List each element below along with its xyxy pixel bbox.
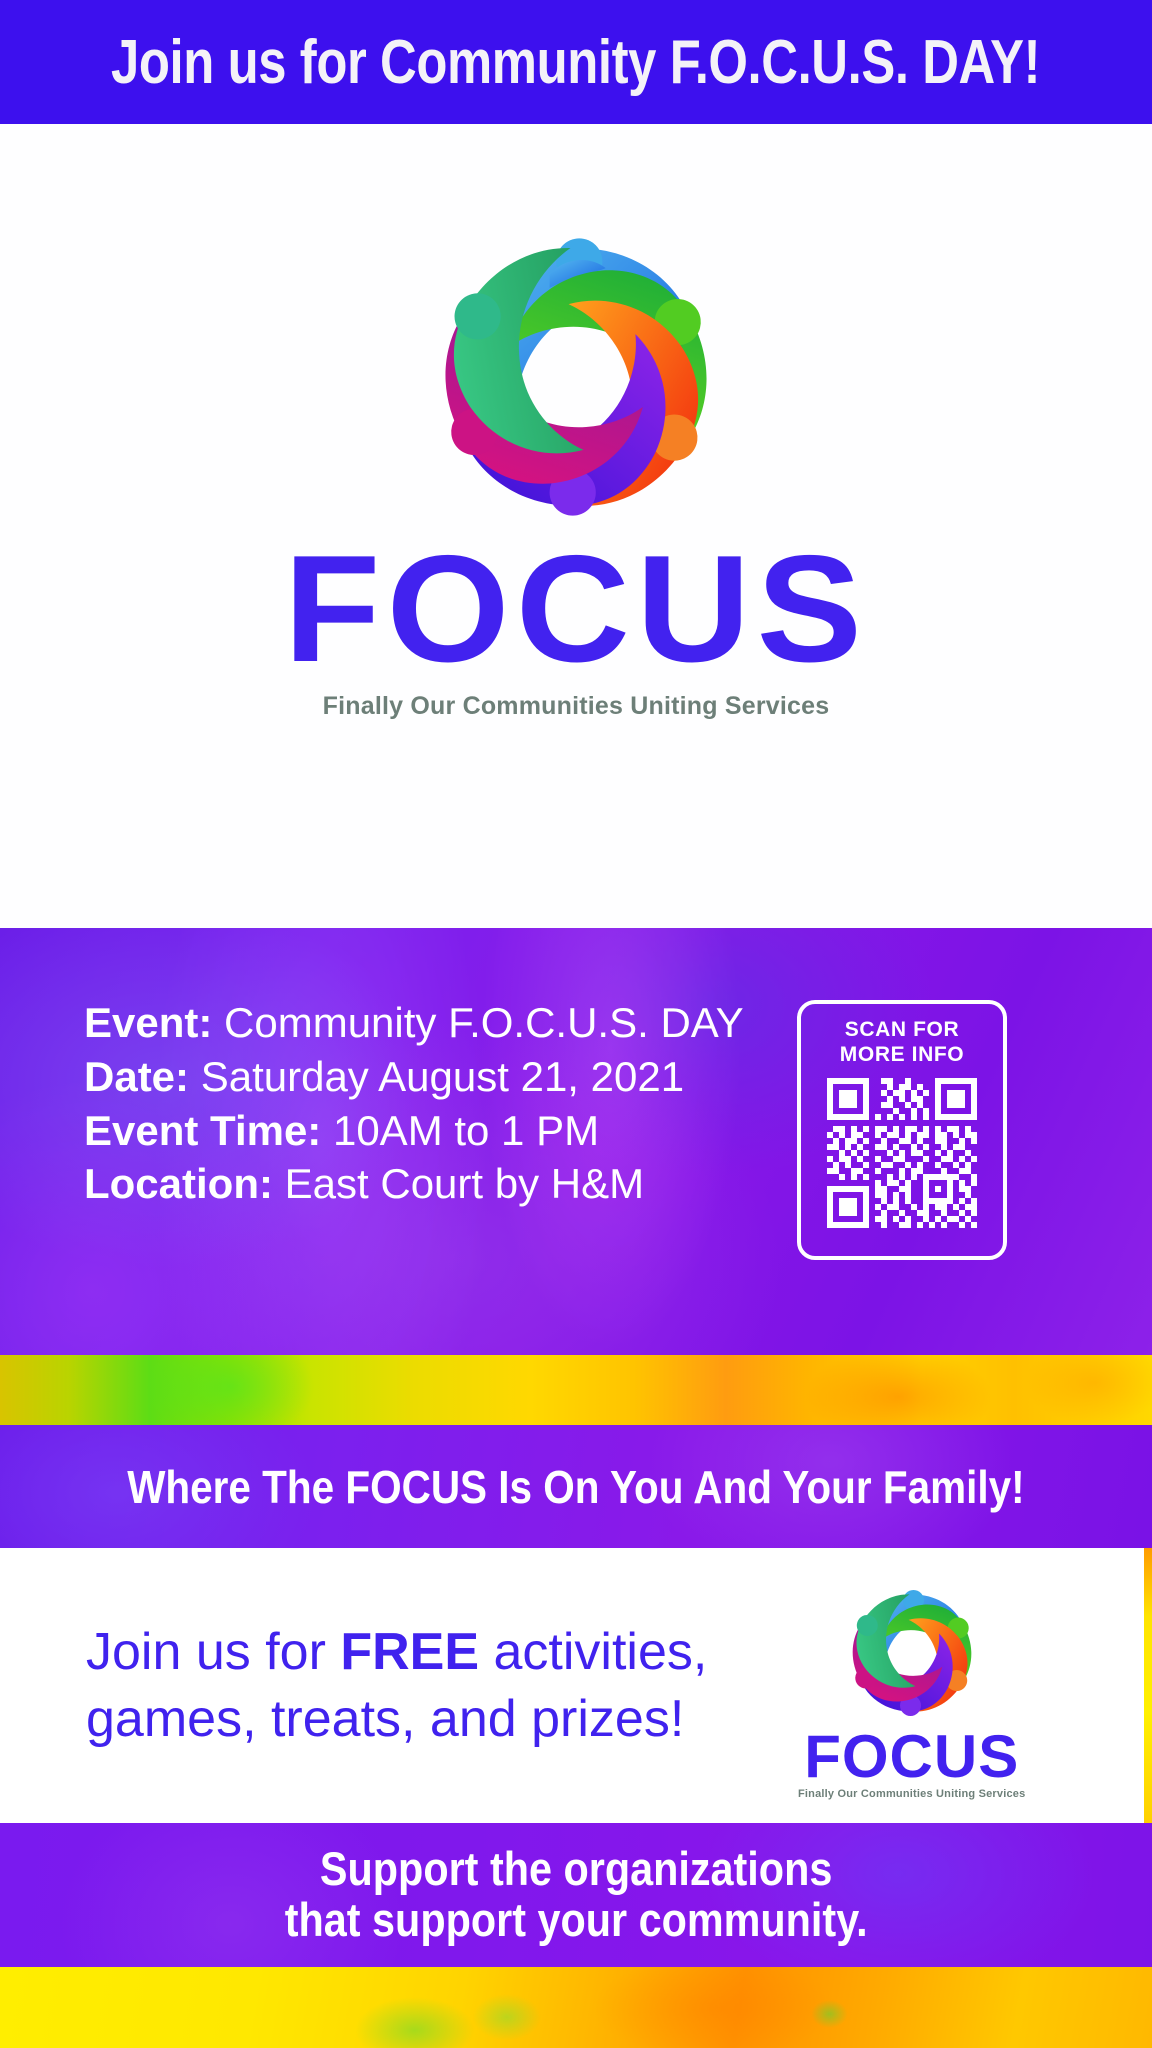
time-label: Event Time: <box>84 1107 321 1154</box>
date-value: Saturday August 21, 2021 <box>201 1053 684 1100</box>
event-info-row-date: Date: Saturday August 21, 2021 <box>84 1050 744 1104</box>
event-info-row-time: Event Time: 10AM to 1 PM <box>84 1104 744 1158</box>
focus-logo-mark-large <box>411 212 741 547</box>
free-strong-word: FREE <box>340 1623 479 1681</box>
focus-tagline: Finally Our Communities Uniting Services <box>323 692 830 721</box>
flyer-root: Join us for Community F.O.C.U.S. DAY! <box>0 0 1152 2048</box>
location-value: East Court by H&M <box>285 1160 644 1207</box>
event-info-list: Event: Community F.O.C.U.S. DAY Date: Sa… <box>84 996 744 1211</box>
focus-swirl-icon <box>411 212 741 542</box>
tagline-focus-word: FOCUS <box>345 1461 487 1513</box>
free-prefix: Join us for <box>86 1623 340 1681</box>
support-line-2: that support your community. <box>285 1895 868 1946</box>
event-info-row-location: Location: East Court by H&M <box>84 1157 744 1211</box>
event-label: Event: <box>84 999 212 1046</box>
focus-tagline-small: Finally Our Communities Uniting Services <box>798 1788 1025 1800</box>
rainbow-stripe <box>0 1355 1152 1425</box>
time-value: 10AM to 1 PM <box>333 1107 599 1154</box>
qr-code-icon[interactable] <box>827 1078 977 1228</box>
page-title: Join us for Community F.O.C.U.S. DAY! <box>111 27 1040 98</box>
free-line-2: games, treats, and prizes! <box>86 1686 707 1753</box>
support-message-band: Support the organizations that support y… <box>0 1823 1152 1967</box>
free-suffix: activities, <box>479 1623 707 1681</box>
qr-label-line2: MORE INFO <box>840 1043 964 1068</box>
family-tagline-text: Where The FOCUS Is On You And Your Famil… <box>127 1460 1024 1514</box>
free-line-1: Join us for FREE activities, <box>86 1619 707 1686</box>
event-value: Community F.O.C.U.S. DAY <box>224 999 744 1046</box>
support-line-1: Support the organizations <box>320 1844 832 1895</box>
focus-wordmark: FOCUS <box>284 541 868 678</box>
footer-color-band <box>0 1967 1152 2048</box>
tagline-suffix: Is On You And Your Family! <box>487 1461 1025 1513</box>
focus-wordmark-small: FOCUS <box>804 1730 1019 1784</box>
qr-label-line1: SCAN FOR <box>845 1018 959 1043</box>
family-tagline-band: Where The FOCUS Is On You And Your Famil… <box>0 1425 1152 1548</box>
date-label: Date: <box>84 1053 189 1100</box>
location-label: Location: <box>84 1160 273 1207</box>
right-edge-accent <box>1144 1548 1152 1823</box>
header-banner: Join us for Community F.O.C.U.S. DAY! <box>0 0 1152 124</box>
free-activities-text: Join us for FREE activities, games, trea… <box>86 1619 707 1752</box>
tagline-prefix: Where The <box>127 1461 345 1513</box>
focus-swirl-icon-small <box>837 1578 987 1728</box>
event-info-row-event: Event: Community F.O.C.U.S. DAY <box>84 996 744 1050</box>
hero-logo-section: FOCUS Finally Our Communities Uniting Se… <box>0 124 1152 928</box>
focus-logo-mark-small: FOCUS Finally Our Communities Uniting Se… <box>798 1578 1025 1800</box>
qr-scan-card[interactable]: SCAN FOR MORE INFO <box>797 1000 1007 1260</box>
